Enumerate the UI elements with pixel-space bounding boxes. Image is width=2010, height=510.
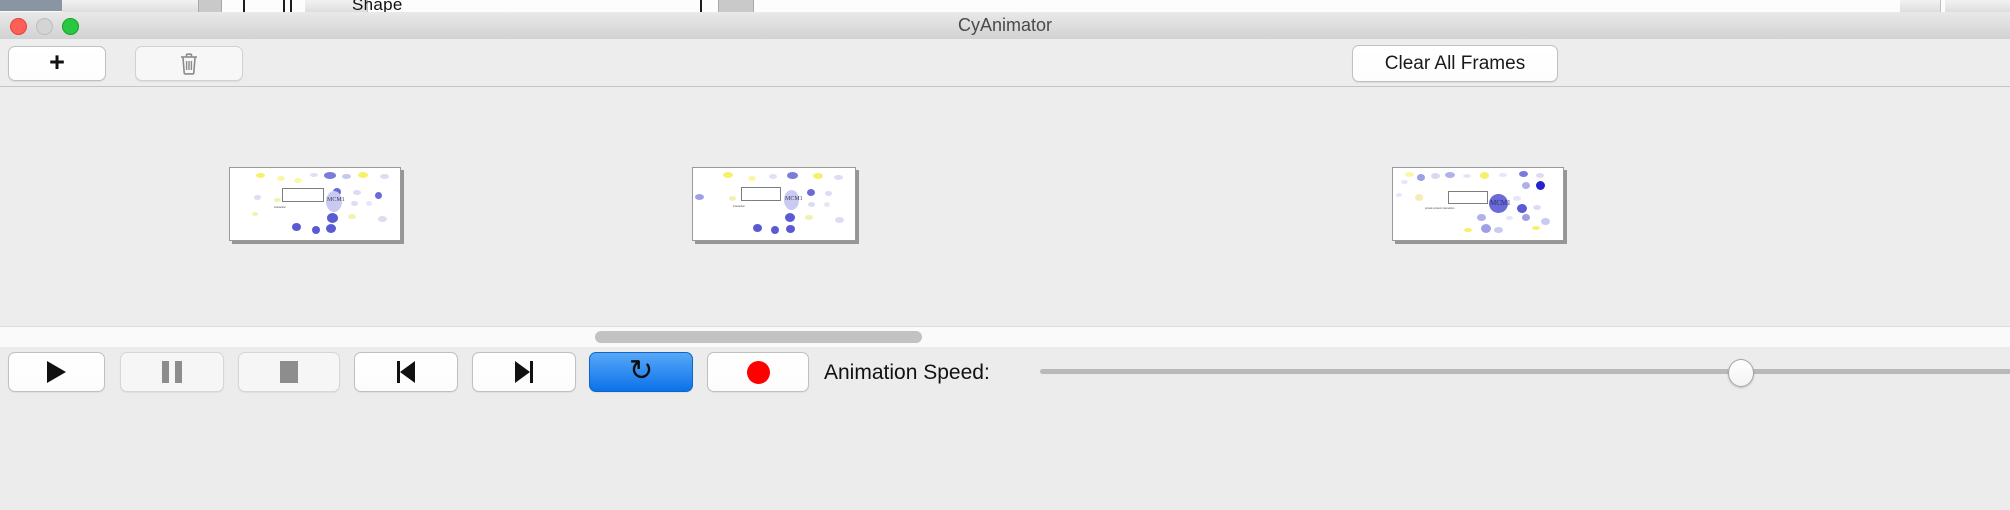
network-node — [1494, 227, 1503, 233]
network-node — [1480, 172, 1489, 179]
window-title: CyAnimator — [0, 12, 2010, 39]
network-node — [1417, 174, 1425, 181]
network-node — [277, 176, 285, 181]
background-tick — [283, 0, 285, 12]
network-node — [342, 174, 351, 179]
network-node — [380, 174, 389, 179]
background-segment — [1945, 0, 2010, 12]
timeline-panel[interactable]: MCM1 interaction — [0, 87, 2010, 325]
network-node — [1396, 193, 1402, 197]
skip-back-icon — [397, 361, 415, 383]
animation-speed-slider[interactable] — [1040, 352, 2010, 390]
network-node — [807, 189, 815, 196]
next-frame-button[interactable] — [472, 352, 576, 392]
network-node — [1533, 205, 1541, 210]
network-node — [310, 173, 318, 177]
timeline-frame-thumbnail[interactable]: MCM1 protein-protein interaction — [1392, 167, 1564, 241]
network-node — [695, 194, 704, 200]
network-annotation — [282, 188, 324, 202]
background-segment — [150, 0, 199, 12]
network-node — [254, 195, 261, 200]
network-node — [769, 174, 777, 179]
network-node — [753, 224, 762, 232]
background-notch — [718, 0, 754, 12]
network-node — [1405, 172, 1414, 177]
network-node — [274, 198, 281, 202]
play-icon — [47, 361, 66, 383]
network-node — [1517, 204, 1527, 213]
background-notch — [198, 0, 222, 12]
network-node — [366, 201, 372, 206]
title-bar[interactable]: CyAnimator — [0, 12, 2010, 40]
record-button[interactable] — [707, 352, 809, 392]
network-node — [358, 172, 368, 178]
network-node — [348, 214, 356, 219]
timeline-scrollbar-track[interactable] — [0, 326, 2010, 348]
add-frame-button[interactable]: + — [8, 46, 106, 81]
network-node — [729, 196, 736, 201]
playback-control-bar: ↻ Animation Speed: — [0, 347, 2010, 510]
cyanimator-window: Shape CyAnimator + Clear All Frames — [0, 0, 2010, 510]
network-node — [1532, 226, 1540, 230]
slider-thumb[interactable] — [1728, 359, 1754, 387]
network-preview: MCM1 interaction — [693, 168, 855, 240]
network-node — [771, 226, 779, 234]
background-tick — [243, 0, 245, 12]
network-hub-label: MCM1 — [785, 196, 803, 202]
network-node — [324, 172, 336, 179]
network-node — [1522, 182, 1530, 189]
pause-button[interactable] — [120, 352, 224, 392]
network-node — [824, 202, 830, 207]
network-node — [1513, 196, 1521, 201]
network-node — [351, 201, 358, 206]
network-annotation — [741, 187, 781, 201]
network-node — [1541, 218, 1550, 225]
network-preview: MCM1 interaction — [230, 168, 400, 240]
network-node — [825, 191, 832, 196]
network-node — [1415, 194, 1423, 201]
skip-forward-icon — [515, 361, 533, 383]
network-node — [1536, 181, 1545, 190]
network-preview: MCM1 protein-protein interaction — [1393, 168, 1563, 240]
network-node — [835, 217, 844, 223]
network-node — [326, 224, 336, 233]
network-node — [312, 226, 320, 234]
network-node — [1519, 171, 1528, 177]
network-node — [723, 172, 733, 178]
network-node — [834, 175, 843, 180]
pause-icon — [162, 361, 182, 383]
network-node — [805, 215, 813, 220]
clear-all-frames-button[interactable]: Clear All Frames — [1352, 45, 1558, 82]
network-node — [375, 192, 382, 199]
toolbar: + Clear All Frames — [0, 39, 2010, 87]
network-node — [1445, 172, 1455, 178]
record-icon — [747, 361, 770, 384]
background-tick — [700, 0, 702, 12]
network-node — [1499, 173, 1507, 177]
background-segment — [62, 0, 151, 12]
network-node — [1463, 174, 1471, 178]
delete-frame-button[interactable] — [135, 46, 243, 81]
network-node — [1464, 228, 1472, 232]
network-node — [1506, 216, 1513, 220]
network-node — [353, 190, 361, 195]
animation-speed-label: Animation Speed: — [824, 361, 990, 385]
timeline-frame-thumbnail[interactable]: MCM1 interaction — [229, 167, 401, 241]
network-hub-label: MCM1 — [1490, 199, 1511, 207]
network-node — [294, 178, 302, 183]
trash-icon — [179, 52, 199, 76]
network-node — [378, 216, 387, 222]
network-hub-label: MCM1 — [327, 197, 345, 203]
loop-icon: ↻ — [629, 356, 653, 385]
network-node — [292, 223, 301, 231]
timeline-frame-thumbnail[interactable]: MCM1 interaction — [692, 167, 856, 241]
network-node — [785, 213, 795, 222]
network-node — [1431, 173, 1440, 179]
slider-track[interactable] — [1040, 369, 2010, 374]
network-node — [1536, 173, 1544, 178]
background-segment — [1900, 0, 1941, 12]
network-node — [1481, 224, 1491, 233]
play-button[interactable] — [8, 352, 105, 392]
timeline-scrollbar-thumb[interactable] — [595, 331, 922, 343]
stop-button[interactable] — [238, 352, 340, 392]
loop-button[interactable]: ↻ — [589, 352, 693, 392]
network-annotation — [1448, 191, 1488, 204]
network-node — [808, 202, 815, 207]
stop-icon — [280, 361, 298, 383]
background-window-titlebar — [0, 0, 62, 11]
network-node — [327, 213, 338, 223]
background-tick — [290, 0, 292, 12]
network-node — [813, 173, 823, 179]
network-node — [786, 225, 795, 233]
previous-frame-button[interactable] — [354, 352, 458, 392]
network-node — [787, 172, 798, 179]
network-node — [748, 176, 756, 181]
network-node — [1522, 214, 1530, 221]
network-node — [1477, 214, 1486, 221]
network-node — [1401, 180, 1408, 184]
network-node — [256, 173, 265, 178]
network-node — [252, 212, 258, 216]
plus-icon: + — [49, 49, 65, 76]
